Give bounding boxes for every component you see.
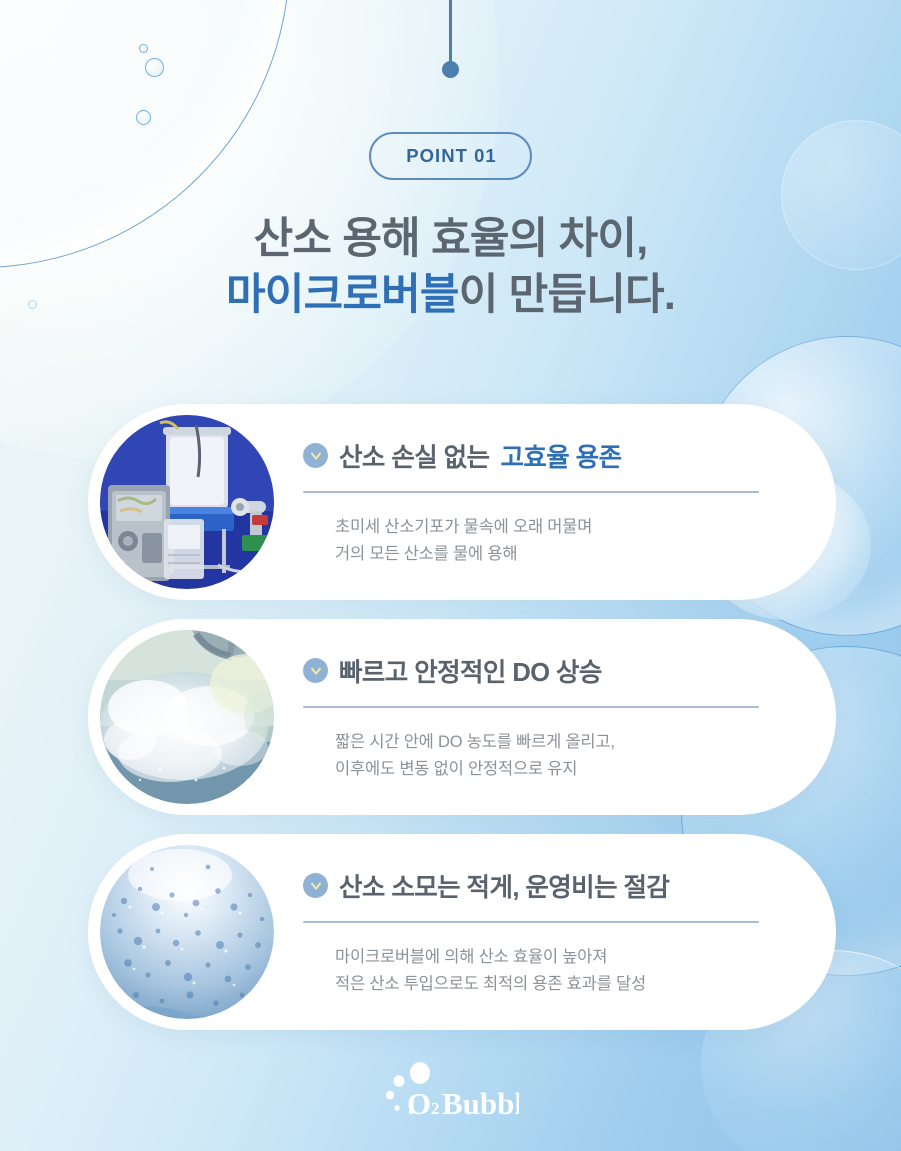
chevron-down-icon (303, 443, 328, 468)
feature-card-desc-line-1: 짧은 시간 안에 DO 농도를 빠르게 올리고, (335, 729, 796, 755)
svg-text:O: O (407, 1086, 431, 1118)
headline-line-1: 산소 용해 효율의 차이, (0, 212, 901, 268)
decorative-bubble-icon (136, 110, 151, 125)
feature-card-desc-line-2: 적은 산소 투입으로도 최적의 용존 효과를 달성 (335, 971, 796, 997)
feature-card-description: 짧은 시간 안에 DO 농도를 빠르게 올리고, 이후에도 변동 없이 안정적으… (335, 729, 796, 781)
feature-card[interactable]: 산소 소모는 적게, 운영비는 절감 마이크로버블에 의해 산소 효율이 높아져… (88, 834, 836, 1030)
page-root: POINT 01 산소 용해 효율의 차이, 마이크로버블이 만듭니다. (0, 0, 901, 1151)
feature-card-title: 산소 손실 없는 고효율 용존 (303, 437, 796, 474)
headline-highlight: 마이크로버블 (226, 271, 459, 319)
headline-line-2-rest: 이 만듭니다. (459, 271, 675, 319)
headline-line-2: 마이크로버블이 만듭니다. (0, 268, 901, 324)
feature-card-list: 산소 손실 없는 고효율 용존 초미세 산소기포가 물속에 오래 머물며 거의 … (88, 404, 836, 1049)
feature-card-desc-line-2: 이후에도 변동 없이 안정적으로 유지 (335, 756, 796, 782)
feature-card-divider (303, 706, 759, 708)
feature-card-title-highlight: 고효율 용존 (500, 437, 621, 474)
point-badge: POINT 01 (369, 132, 531, 180)
feature-card-body: 산소 손실 없는 고효율 용존 초미세 산소기포가 물속에 오래 머물며 거의 … (303, 437, 836, 566)
chevron-down-icon (303, 658, 328, 683)
feature-card-title: 빠르고 안정적인 DO 상승 (303, 652, 796, 689)
feature-card[interactable]: 빠르고 안정적인 DO 상승 짧은 시간 안에 DO 농도를 빠르게 올리고, … (88, 619, 836, 815)
feature-card-divider (303, 491, 759, 493)
chevron-down-icon (303, 873, 328, 898)
feature-card-title-plain: 산소 손실 없는 (339, 437, 489, 474)
top-pin-marker (0, 0, 901, 78)
pin-line (449, 0, 452, 62)
feature-card-image (100, 415, 274, 589)
o2bubble-logo: O 2 Bubble (383, 1062, 519, 1118)
feature-card-body: 빠르고 안정적인 DO 상승 짧은 시간 안에 DO 농도를 빠르게 올리고, … (303, 652, 836, 781)
page-title: 산소 용해 효율의 차이, 마이크로버블이 만듭니다. (0, 212, 901, 324)
feature-card-description: 초미세 산소기포가 물속에 오래 머물며 거의 모든 산소를 물에 용해 (335, 514, 796, 566)
svg-text:2: 2 (431, 1099, 440, 1118)
feature-card[interactable]: 산소 손실 없는 고효율 용존 초미세 산소기포가 물속에 오래 머물며 거의 … (88, 404, 836, 600)
feature-card-title-plain: 산소 소모는 적게, 운영비는 절감 (339, 867, 669, 904)
feature-card-body: 산소 소모는 적게, 운영비는 절감 마이크로버블에 의해 산소 효율이 높아져… (303, 867, 836, 996)
feature-card-divider (303, 921, 759, 923)
feature-card-description: 마이크로버블에 의해 산소 효율이 높아져 적은 산소 투입으로도 최적의 용존… (335, 944, 796, 996)
svg-text:Bubble: Bubble (442, 1086, 519, 1118)
feature-card-image (100, 845, 274, 1019)
footer: O 2 Bubble (0, 1062, 901, 1118)
feature-card-desc-line-1: 마이크로버블에 의해 산소 효율이 높아져 (335, 944, 796, 970)
feature-card-title: 산소 소모는 적게, 운영비는 절감 (303, 867, 796, 904)
feature-card-image (100, 630, 274, 804)
feature-card-title-plain: 빠르고 안정적인 DO 상승 (339, 652, 602, 689)
feature-card-desc-line-2: 거의 모든 산소를 물에 용해 (335, 541, 796, 567)
pin-dot-icon (442, 61, 459, 78)
section-header: POINT 01 산소 용해 효율의 차이, 마이크로버블이 만듭니다. (0, 132, 901, 324)
feature-card-desc-line-1: 초미세 산소기포가 물속에 오래 머물며 (335, 514, 796, 540)
